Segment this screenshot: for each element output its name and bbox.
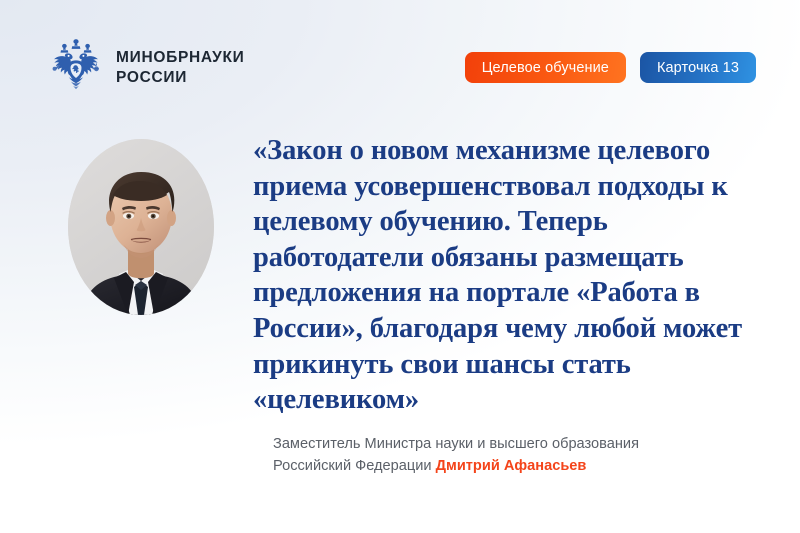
ministry-name-line-2: РОССИИ: [116, 69, 245, 87]
ministry-logo-lockup: МИНОБРНАУКИ РОССИИ: [48, 36, 245, 98]
attribution: Заместитель Министра науки и высшего обр…: [273, 433, 743, 477]
info-card: МИНОБРНАУКИ РОССИИ Целевое обучение Карт…: [0, 0, 800, 533]
ministry-logo-text: МИНОБРНАУКИ РОССИИ: [116, 47, 245, 88]
badge-group: Целевое обучение Карточка 13: [465, 52, 756, 83]
attribution-person-name: Дмитрий Афанасьев: [436, 458, 587, 474]
quote-text: «Закон о новом механизме целевого приема…: [253, 133, 745, 418]
attribution-role-line-2: Российский Федерации: [273, 458, 436, 474]
attribution-role-line-1: Заместитель Министра науки и высшего обр…: [273, 436, 639, 452]
ministry-name-line-1: МИНОБРНАУКИ: [116, 49, 245, 67]
russian-double-headed-eagle-emblem-icon: [48, 36, 104, 98]
badge-card-number[interactable]: Карточка 13: [640, 52, 756, 83]
badge-topic[interactable]: Целевое обучение: [465, 52, 626, 83]
person-portrait-photo-icon: [68, 139, 214, 315]
avatar: [68, 139, 214, 315]
